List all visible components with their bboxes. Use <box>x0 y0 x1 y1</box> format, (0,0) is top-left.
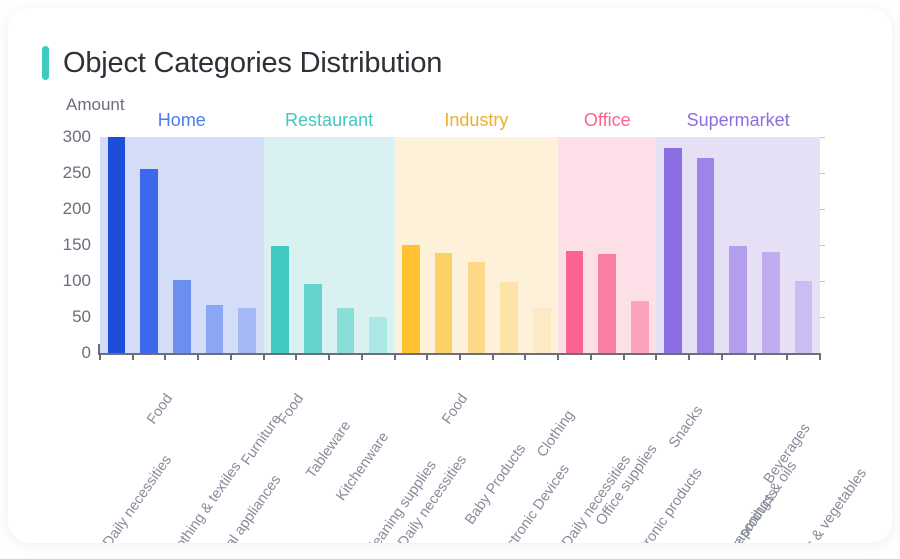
bar[interactable] <box>206 305 224 353</box>
x-axis-tick-label: Seasonings & oils <box>787 364 866 468</box>
y-axis-tick-label: 300 <box>63 127 91 147</box>
x-axis-tick-mark <box>295 353 297 360</box>
bar[interactable] <box>598 254 616 353</box>
x-axis-tick-mark <box>394 353 396 360</box>
x-axis-tick-label-text: Food <box>144 391 176 427</box>
y-axis-tick-mark <box>820 317 825 318</box>
chart-card: Object Categories Distribution Amount 05… <box>8 8 892 543</box>
x-axis-tick-mark <box>557 353 559 360</box>
bar[interactable] <box>238 308 256 353</box>
y-axis-title: Amount <box>66 95 125 115</box>
bar[interactable] <box>369 317 387 353</box>
bar[interactable] <box>631 301 649 353</box>
bar[interactable] <box>664 148 682 353</box>
y-axis-tick-mark <box>820 173 825 174</box>
x-axis-tick-mark <box>263 353 265 360</box>
bar[interactable] <box>762 252 780 353</box>
x-axis-tick-label-text: Daily necessities <box>100 452 175 543</box>
x-axis-tick-mark <box>164 353 166 360</box>
x-axis-tick-label-text: Fruits & vegetables <box>785 466 869 543</box>
bar[interactable] <box>468 262 486 353</box>
title-row: Object Categories Distribution <box>42 46 442 80</box>
bar[interactable] <box>795 281 813 353</box>
page-title: Object Categories Distribution <box>63 47 442 80</box>
x-axis-tick-mark <box>328 353 330 360</box>
x-axis-tick-mark <box>99 353 101 360</box>
x-axis-tick-mark <box>492 353 494 360</box>
y-axis-tick-mark <box>820 137 825 138</box>
x-axis-tick-mark <box>361 353 363 360</box>
x-axis-tick-mark <box>754 353 756 360</box>
group-label-restaurant: Restaurant <box>285 110 373 131</box>
bar[interactable] <box>566 251 584 353</box>
x-axis-tick-mark <box>655 353 657 360</box>
x-axis-tick-mark <box>230 353 232 360</box>
group-label-office: Office <box>584 110 631 131</box>
y-axis-tick-label: 200 <box>63 199 91 219</box>
x-axis-tick-mark <box>721 353 723 360</box>
y-axis-tick-mark <box>820 245 825 246</box>
x-axis-tick-mark <box>819 353 821 360</box>
y-axis-tick-label: 150 <box>63 235 91 255</box>
bar[interactable] <box>435 253 453 353</box>
y-axis-tick-mark <box>820 281 825 282</box>
y-axis-tick-mark <box>820 209 825 210</box>
y-axis-tick-label: 100 <box>63 271 91 291</box>
bar[interactable] <box>729 246 747 353</box>
y-axis-tick-label: 50 <box>72 307 91 327</box>
bar[interactable] <box>173 280 191 353</box>
x-axis-tick-label: Food <box>163 364 195 400</box>
bar[interactable] <box>337 308 355 353</box>
x-axis-tick-mark <box>786 353 788 360</box>
x-axis-tick-mark <box>132 353 134 360</box>
bar[interactable] <box>500 282 518 353</box>
group-label-supermarket: Supermarket <box>687 110 790 131</box>
x-axis-tick-mark <box>590 353 592 360</box>
bar[interactable] <box>402 245 420 353</box>
x-axis-tick-mark <box>459 353 461 360</box>
group-label-home: Home <box>158 110 206 131</box>
bar[interactable] <box>140 169 158 353</box>
plot-area: 050100150200250300HomeDaily necessitiesF… <box>100 137 820 353</box>
bar[interactable] <box>108 137 126 353</box>
y-axis-tick-label: 0 <box>82 343 91 363</box>
x-axis-tick-mark <box>623 353 625 360</box>
title-accent-bar <box>42 46 49 80</box>
bar[interactable] <box>304 284 322 353</box>
x-axis-tick-mark <box>688 353 690 360</box>
x-axis-tick-mark <box>197 353 199 360</box>
bar[interactable] <box>697 158 715 353</box>
x-axis-tick-mark <box>524 353 526 360</box>
y-axis-tick-label: 250 <box>63 163 91 183</box>
x-axis-tick-label-text: Seasonings & oils <box>721 458 800 543</box>
bar[interactable] <box>271 246 289 353</box>
group-label-industry: Industry <box>444 110 508 131</box>
bar[interactable] <box>533 308 551 353</box>
x-axis-tick-mark <box>426 353 428 360</box>
